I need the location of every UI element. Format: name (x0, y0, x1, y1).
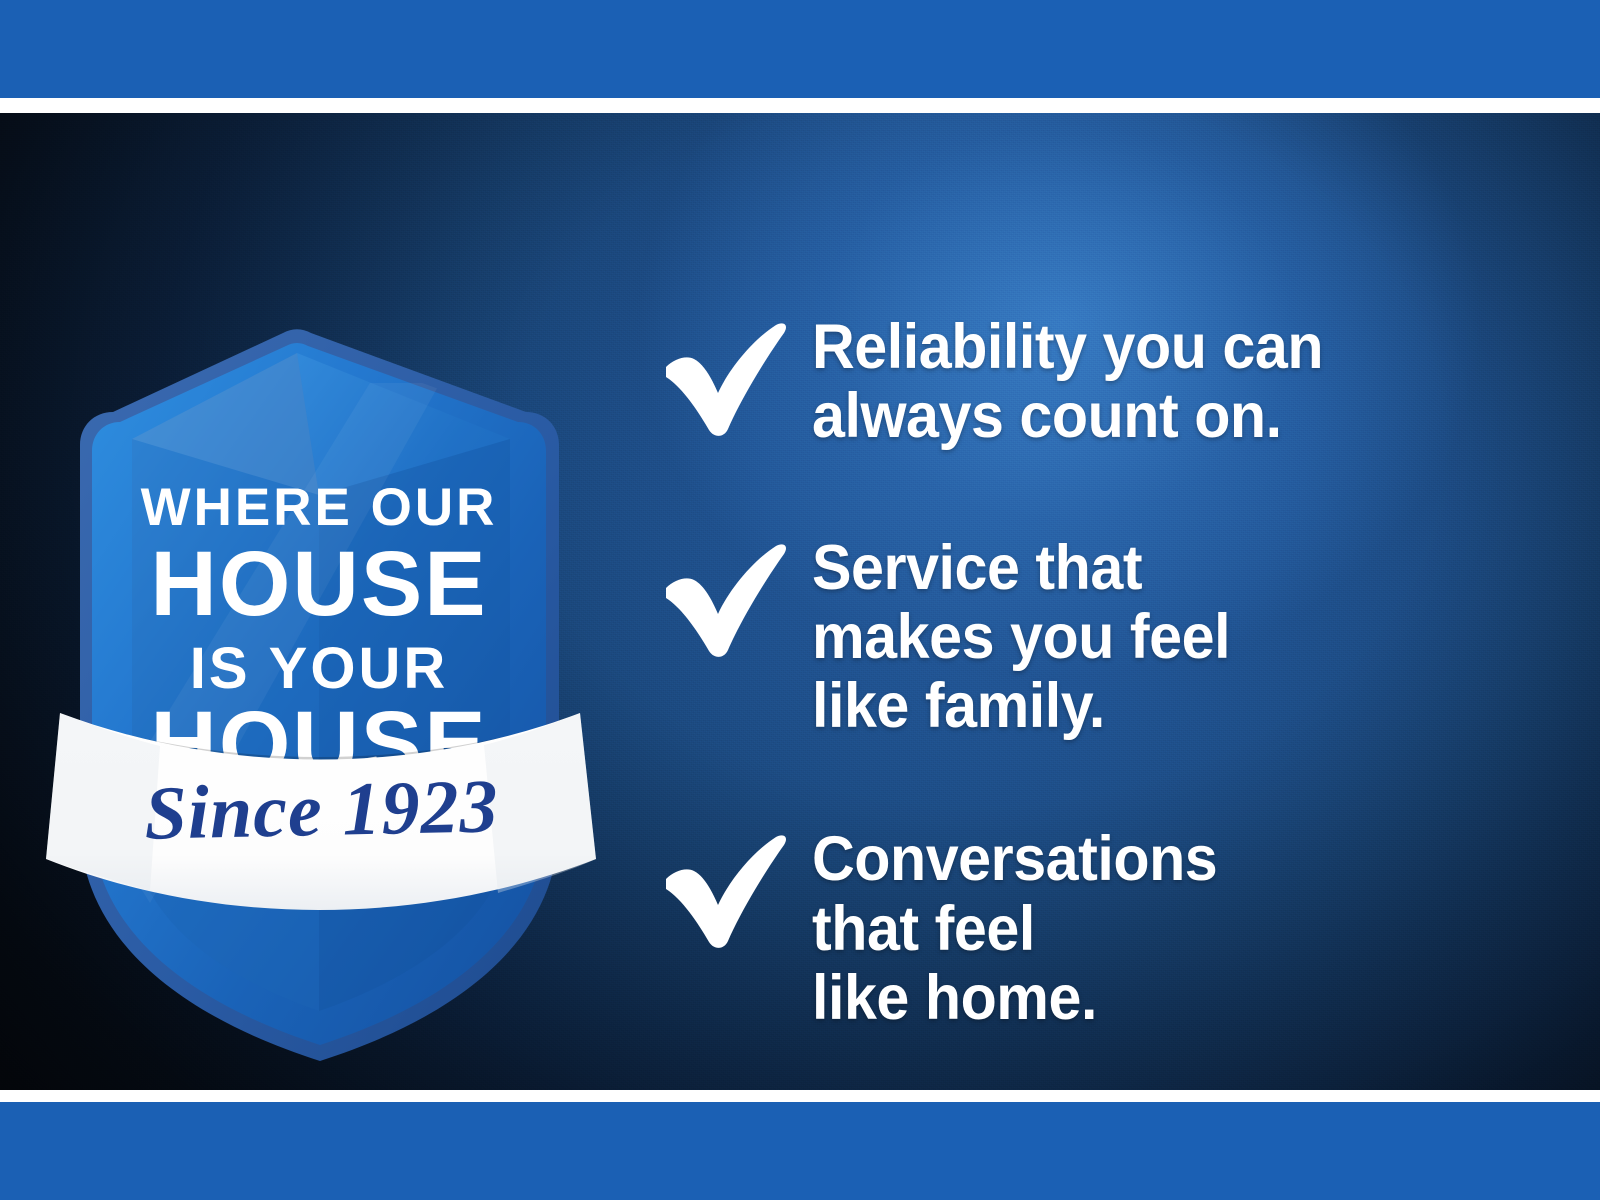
list-item: Conversations that feel like home. (660, 825, 1560, 1033)
benefit-list: Reliability you can always count on. Ser… (660, 313, 1560, 1033)
top-white-rule (0, 98, 1600, 113)
badge-line-2: HOUSE (150, 533, 487, 635)
checkmark-icon (660, 540, 790, 660)
checkmark-icon (660, 319, 790, 439)
ribbon-script-text: Since 1923 (144, 764, 500, 855)
checkmark-icon (660, 831, 790, 951)
badge-line-1: WHERE OUR (141, 478, 498, 537)
bottom-brand-bar (0, 1102, 1600, 1200)
list-item: Service that makes you feel like family. (660, 534, 1560, 742)
list-item-text: Conversations that feel like home. (812, 825, 1217, 1033)
list-item: Reliability you can always count on. (660, 313, 1560, 452)
badge-text-block: WHERE OUR HOUSE IS YOUR HOUSE (141, 478, 498, 795)
bottom-white-rule (0, 1090, 1600, 1102)
brand-shield-badge: WHERE OUR HOUSE IS YOUR HOUSE Since 1923 (40, 263, 640, 1090)
top-brand-bar (0, 0, 1600, 98)
artwork-area: WHERE OUR HOUSE IS YOUR HOUSE Since 1923 (0, 113, 1600, 1090)
banner-canvas: WHERE OUR HOUSE IS YOUR HOUSE Since 1923 (0, 0, 1600, 1200)
list-item-text: Reliability you can always count on. (812, 313, 1323, 452)
badge-line-3: IS YOUR (190, 636, 448, 701)
list-item-text: Service that makes you feel like family. (812, 534, 1230, 742)
